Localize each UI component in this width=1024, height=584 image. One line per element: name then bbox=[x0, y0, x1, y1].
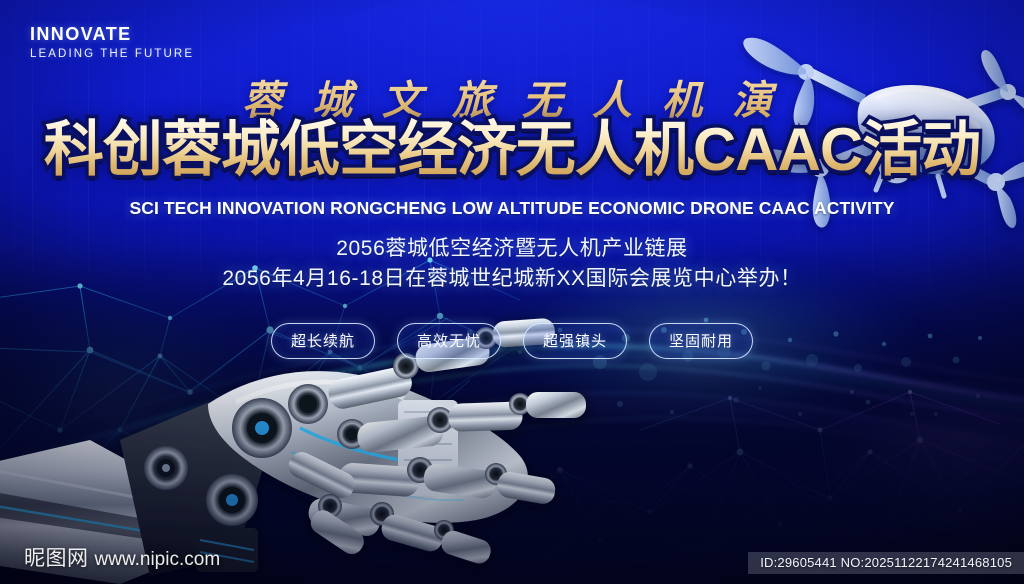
subtitle-line-2: 2056年4月16-18日在蓉城世纪城新XX国际会展览中心举办！ bbox=[0, 264, 1024, 294]
english-title: SCI TECH INNOVATION RONGCHENG LOW ALTITU… bbox=[0, 198, 1024, 219]
feature-pill-1[interactable]: 超长续航 bbox=[271, 323, 375, 359]
feature-pill-list: 超长续航 高效无忧 超强镇头 坚固耐用 bbox=[0, 323, 1024, 359]
feature-pill-2[interactable]: 高效无忧 bbox=[397, 323, 501, 359]
subtitle-line-1: 2056蓉城低空经济暨无人机产业链展 bbox=[0, 234, 1024, 264]
brand-logo: INNOVATE LEADING THE FUTURE bbox=[30, 24, 194, 60]
image-id-badge: ID:29605441 NO:20251122174241468105 bbox=[748, 552, 1024, 574]
main-title-fill: 科创蓉城低空经济无人机CAAC活动 bbox=[0, 118, 1024, 182]
feature-pill-4[interactable]: 坚固耐用 bbox=[649, 323, 753, 359]
brand-name: INNOVATE bbox=[30, 24, 194, 45]
watermark-site-cn: 昵图网 bbox=[24, 547, 89, 570]
poster-canvas: INNOVATE LEADING THE FUTURE 蓉 城 文 旅 无 人 … bbox=[0, 0, 1024, 584]
watermark-site-url: www.nipic.com bbox=[95, 549, 221, 570]
subtitle-block: 2056蓉城低空经济暨无人机产业链展 2056年4月16-18日在蓉城世纪城新X… bbox=[0, 234, 1024, 294]
feature-pill-3[interactable]: 超强镇头 bbox=[523, 323, 627, 359]
main-title: 科创蓉城低空经济无人机CAAC活动 科创蓉城低空经济无人机CAAC活动 bbox=[0, 118, 1024, 182]
background-lower-fade bbox=[0, 245, 1024, 584]
brand-tagline: LEADING THE FUTURE bbox=[30, 48, 194, 60]
watermark: 昵图网www.nipic.com bbox=[24, 542, 220, 572]
